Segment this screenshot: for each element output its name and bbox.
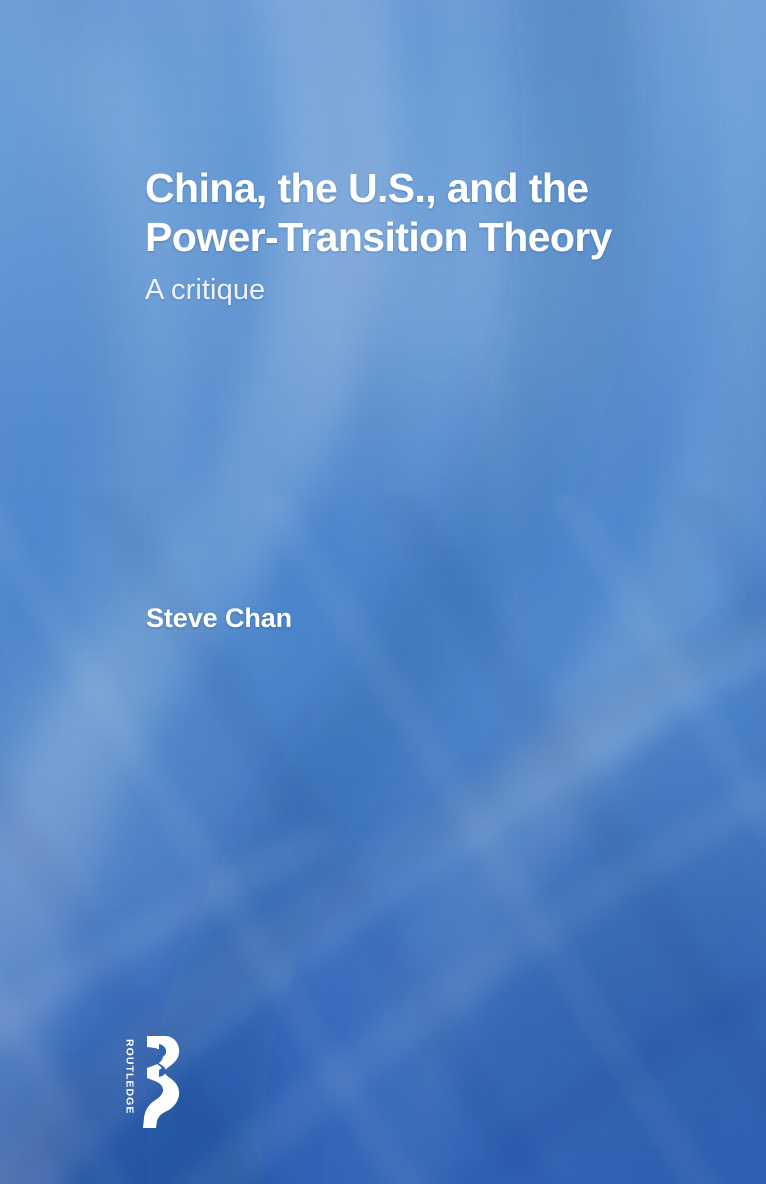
book-title-line-1: China, the U.S., and the	[145, 164, 685, 213]
book-author-name: Steve Chan	[146, 602, 292, 634]
book-title-block: China, the U.S., and the Power-Transitio…	[145, 164, 685, 307]
cover-text-layer: China, the U.S., and the Power-Transitio…	[0, 0, 766, 1184]
book-subtitle: A critique	[145, 273, 685, 307]
publisher-wordmark: ROUTLEDGE	[124, 1039, 135, 1114]
routledge-face-r-icon	[139, 1034, 185, 1130]
book-cover: China, the U.S., and the Power-Transitio…	[0, 0, 766, 1184]
publisher-logo: ROUTLEDGE	[124, 1034, 214, 1134]
book-title-line-2: Power-Transition Theory	[145, 213, 685, 262]
